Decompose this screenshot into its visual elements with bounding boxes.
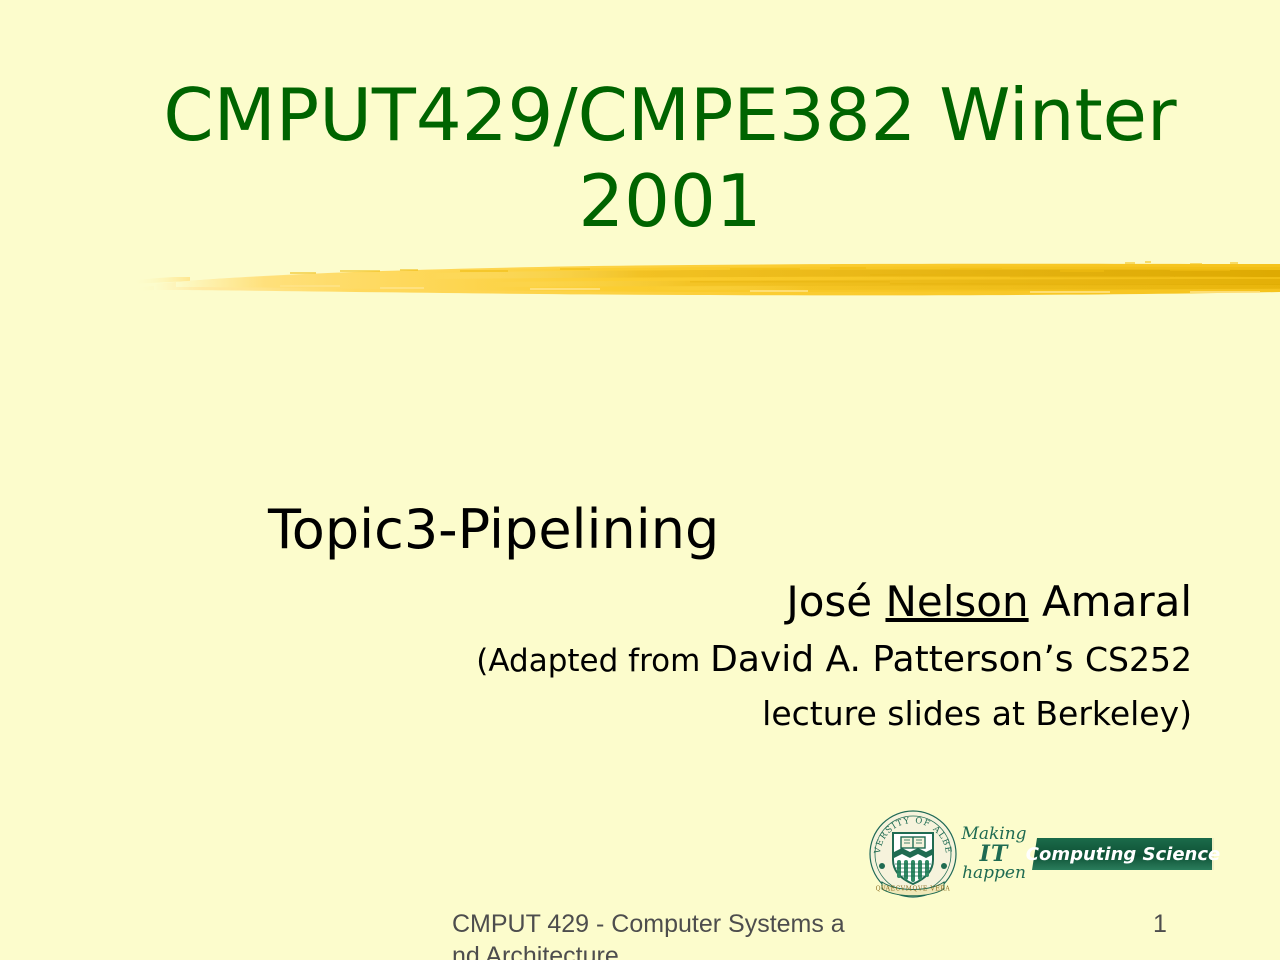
tagline-line-3: happen — [960, 865, 1028, 882]
attribution-source: David A. Patterson’s — [710, 639, 1085, 680]
attribution-block: (Adapted from David A. Patterson’s CS252… — [432, 636, 1192, 738]
slide-page-number: 1 — [1140, 908, 1180, 940]
computing-science-banner: Computing Science — [1032, 838, 1214, 870]
svg-text:QVAECVMQVE VERA: QVAECVMQVE VERA — [876, 886, 951, 893]
presentation-slide: CMPUT429/CMPE382 Winter 2001 — [0, 0, 1280, 960]
author-last: Amaral — [1029, 577, 1192, 626]
slide-title: CMPUT429/CMPE382 Winter 2001 — [150, 72, 1190, 244]
author-underlined: Nelson — [885, 577, 1028, 626]
university-of-alberta-crest-icon: UNIVERSITY OF ALBERTA — [868, 808, 958, 900]
brush-stroke-divider — [130, 248, 1280, 310]
slide-topic: Topic3-Pipelining — [268, 498, 719, 562]
making-it-happen-tagline: Making IT happen — [960, 826, 1028, 882]
attribution-prefix: (Adapted from — [476, 643, 710, 679]
institution-logo-group: UNIVERSITY OF ALBERTA — [868, 806, 1210, 902]
attribution-line2: lecture slides at Berkeley) — [432, 690, 1192, 738]
attribution-course: CS252 — [1085, 640, 1192, 679]
author-first: José — [786, 577, 885, 626]
tagline-line-2: IT — [960, 843, 1028, 865]
banner-label: Computing Science — [1032, 838, 1214, 870]
slide-footer-text: CMPUT 429 - Computer Systems and Archite… — [452, 908, 852, 960]
author-line: José Nelson Amaral — [786, 576, 1192, 628]
